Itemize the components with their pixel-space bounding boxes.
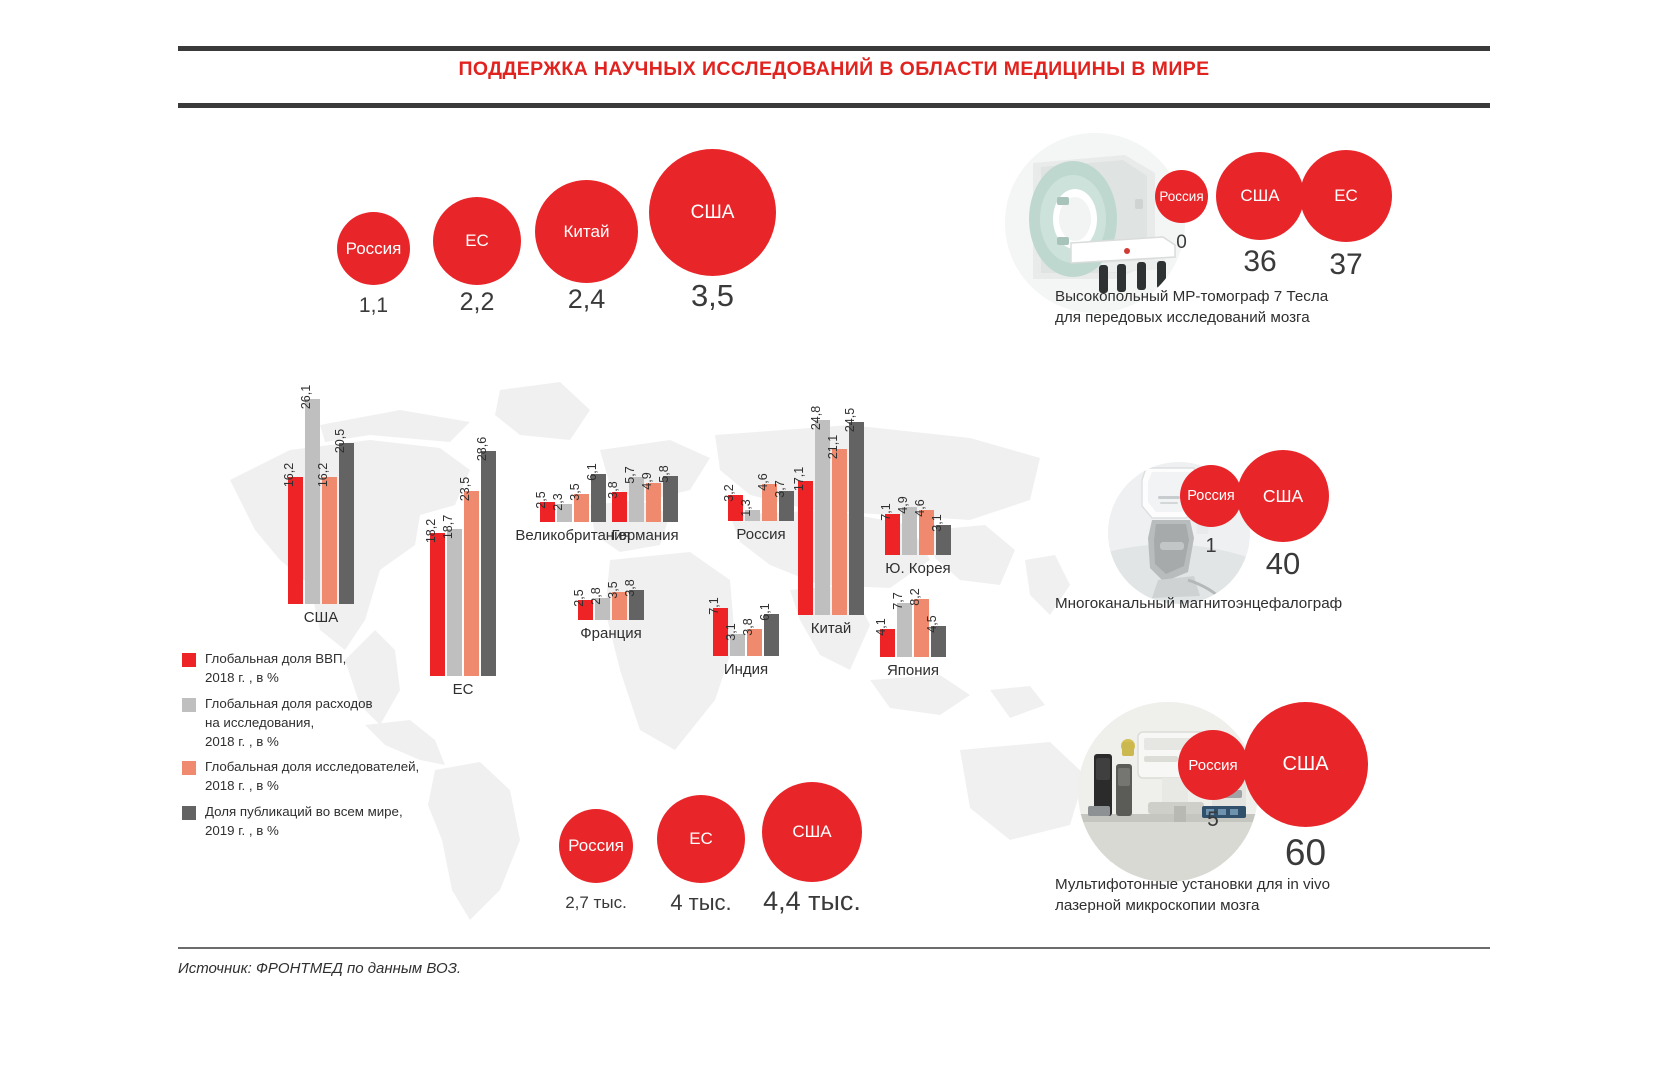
mri-bubble-eu: ЕС	[1300, 150, 1392, 242]
cluster-label: Япония	[887, 662, 939, 679]
bubble-label: Россия	[1159, 189, 1203, 204]
investment-value-russia: 1,1	[337, 294, 410, 318]
bar-publications: 24,5	[849, 422, 864, 615]
bar-spend: 26,1	[305, 399, 320, 604]
multiphoton-bubble-russia: Россия	[1178, 730, 1248, 800]
bar-cluster-south-korea: 7,1 4,9 4,6 3,1 Ю. Корея	[885, 507, 951, 555]
bubble-label: США	[1240, 186, 1279, 206]
meg-caption: Многоканальный магнитоэнцефалограф	[1055, 594, 1435, 615]
bar-cluster-india: 7,1 3,1 3,8 6,1 Индия	[713, 608, 779, 656]
meg-value-usa: 40	[1237, 546, 1329, 582]
bubble-label: ЕС	[689, 829, 713, 849]
bar-publications: 4,5	[931, 626, 946, 657]
bar-publications: 3,1	[936, 525, 951, 555]
bubble-label: ЕС	[1334, 186, 1358, 206]
researchers-bubble-eu: ЕС	[657, 795, 745, 883]
infographic-root: ПОДДЕРЖКА НАУЧНЫХ ИССЛЕДОВАНИЙ В ОБЛАСТИ…	[0, 0, 1670, 1080]
investment-value-china: 2,4	[535, 284, 638, 315]
bar-spend: 7,7	[897, 603, 912, 657]
bar-cluster-eu: 18,2 18,7 23,5 28,6 ЕС	[430, 451, 496, 676]
bar-researchers: 3,5	[574, 494, 589, 522]
legend-label: Глобальная доля расходовна исследования,…	[205, 695, 373, 752]
bubble-label: США	[1282, 753, 1328, 776]
meg-bubble-usa: США	[1237, 450, 1329, 542]
investment-bubble-eu: ЕС	[433, 197, 521, 285]
researchers-value-usa: 4,4 тыс.	[748, 886, 876, 917]
bar-researchers: 3,8	[747, 629, 762, 656]
footer-rule	[178, 947, 1490, 949]
bar-gdp: 3,8	[612, 492, 627, 522]
legend-item-spend: Глобальная доля расходовна исследования,…	[182, 695, 442, 752]
bar-spend: 3,1	[730, 634, 745, 656]
legend-item-publications: Доля публикаций во всем мире,2019 г. , в…	[182, 803, 442, 841]
mri-caption: Высокопольный МР-томограф 7 Тесладля пер…	[1055, 287, 1415, 329]
bar-publications: 28,6	[481, 451, 496, 676]
bar-cluster-china: 17,1 24,8 21,1 24,5 Китай	[798, 420, 864, 615]
bar-spend: 1,3	[745, 510, 760, 521]
mri-value-eu: 37	[1300, 248, 1392, 282]
mri-scanner-photo	[1005, 133, 1185, 313]
investment-value-eu: 2,2	[433, 288, 521, 317]
legend-swatch-icon	[182, 698, 196, 712]
bar-publications: 20,5	[339, 443, 354, 604]
bubble-label: США	[1263, 486, 1303, 507]
legend-swatch-icon	[182, 806, 196, 820]
bar-cluster-usa: 16,2 26,1 16,2 20,5 США	[288, 399, 354, 604]
legend-swatch-icon	[182, 653, 196, 667]
bubble-label: Россия	[1188, 757, 1237, 774]
bar-spend: 18,7	[447, 529, 462, 676]
multiphoton-bubble-usa: США	[1243, 702, 1368, 827]
bar-cluster-france: 2,5 2,8 3,5 3,8 Франция	[578, 590, 644, 620]
researchers-bubble-russia: Россия	[559, 809, 633, 883]
bar-spend: 2,8	[595, 598, 610, 620]
legend-item-gdp: Глобальная доля ВВП,2018 г. , в %	[182, 650, 442, 688]
bubble-label: Китай	[564, 222, 610, 242]
cluster-label: ЕС	[453, 681, 474, 698]
bubble-label: Россия	[346, 239, 402, 259]
bar-gdp: 4,1	[880, 629, 895, 657]
bar-cluster-russia: 3,2 1,3 4,6 3,7 Россия	[728, 484, 794, 521]
mri-bubble-usa: США	[1216, 152, 1304, 240]
cluster-label: Германия	[611, 527, 678, 544]
cluster-label: Ю. Корея	[885, 560, 950, 577]
meg-bubble-russia: Россия	[1180, 465, 1242, 527]
bar-cluster-germany: 3,8 5,7 4,9 5,8 Германия	[612, 476, 678, 522]
bar-gdp: 7,1	[885, 514, 900, 555]
mri-scanner-illustration	[1005, 133, 1185, 313]
bar-publications: 5,8	[663, 476, 678, 522]
bar-spend: 2,3	[557, 504, 572, 522]
bar-cluster-uk: 2,5 2,3 3,5 6,1 Великобритания	[540, 474, 606, 522]
chart-legend: Глобальная доля ВВП,2018 г. , в % Глобал…	[182, 650, 442, 848]
bubble-label: Россия	[1187, 488, 1235, 504]
legend-item-researchers: Глобальная доля исследователей,2018 г. ,…	[182, 758, 442, 796]
investment-value-usa: 3,5	[649, 278, 776, 314]
legend-label: Глобальная доля ВВП,2018 г. , в %	[205, 650, 346, 688]
investment-bubble-china: Китай	[535, 180, 638, 283]
bar-publications: 3,7	[779, 491, 794, 521]
cluster-label: Китай	[811, 620, 852, 637]
bubble-label: США	[792, 822, 831, 842]
bar-researchers: 16,2	[322, 477, 337, 604]
cluster-label: Россия	[736, 526, 785, 543]
bar-publications: 6,1	[764, 614, 779, 656]
bar-gdp: 16,2	[288, 477, 303, 604]
cluster-label: США	[304, 609, 339, 626]
cluster-label: Франция	[580, 625, 641, 642]
bar-researchers: 4,9	[646, 483, 661, 522]
legend-label: Доля публикаций во всем мире,2019 г. , в…	[205, 803, 403, 841]
header-rule-bottom	[178, 103, 1490, 108]
multiphoton-value-russia: 5	[1178, 808, 1248, 832]
bubble-label: США	[691, 202, 735, 224]
header-rule-top	[178, 46, 1490, 51]
multiphoton-caption: Мультифотонные установки для in vivoлазе…	[1055, 875, 1435, 917]
source-note: Источник: ФРОНТМЕД по данным ВОЗ.	[178, 960, 461, 977]
cluster-label: Индия	[724, 661, 768, 678]
mri-value-usa: 36	[1216, 245, 1304, 279]
legend-label: Глобальная доля исследователей,2018 г. ,…	[205, 758, 419, 796]
page-title: ПОДДЕРЖКА НАУЧНЫХ ИССЛЕДОВАНИЙ В ОБЛАСТИ…	[178, 58, 1490, 81]
researchers-bubble-usa: США	[762, 782, 862, 882]
researchers-value-russia: 2,7 тыс.	[545, 893, 647, 913]
legend-swatch-icon	[182, 761, 196, 775]
bubble-label: ЕС	[465, 231, 489, 251]
meg-value-russia: 1	[1180, 535, 1242, 558]
researchers-value-eu: 4 тыс.	[645, 890, 757, 916]
bubble-label: Россия	[568, 836, 624, 856]
multiphoton-value-usa: 60	[1243, 832, 1368, 874]
mri-value-russia: 0	[1155, 232, 1208, 254]
investment-bubble-usa: США	[649, 149, 776, 276]
bar-cluster-japan: 4,1 7,7 8,2 4,5 Япония	[880, 599, 946, 657]
bar-gdp: 17,1	[798, 481, 813, 615]
bar-researchers: 21,1	[832, 449, 847, 615]
investment-bubble-russia: Россия	[337, 212, 410, 285]
mri-bubble-russia: Россия	[1155, 170, 1208, 223]
bar-publications: 6,1	[591, 474, 606, 522]
bar-researchers: 23,5	[464, 491, 479, 676]
bar-publications: 3,8	[629, 590, 644, 620]
